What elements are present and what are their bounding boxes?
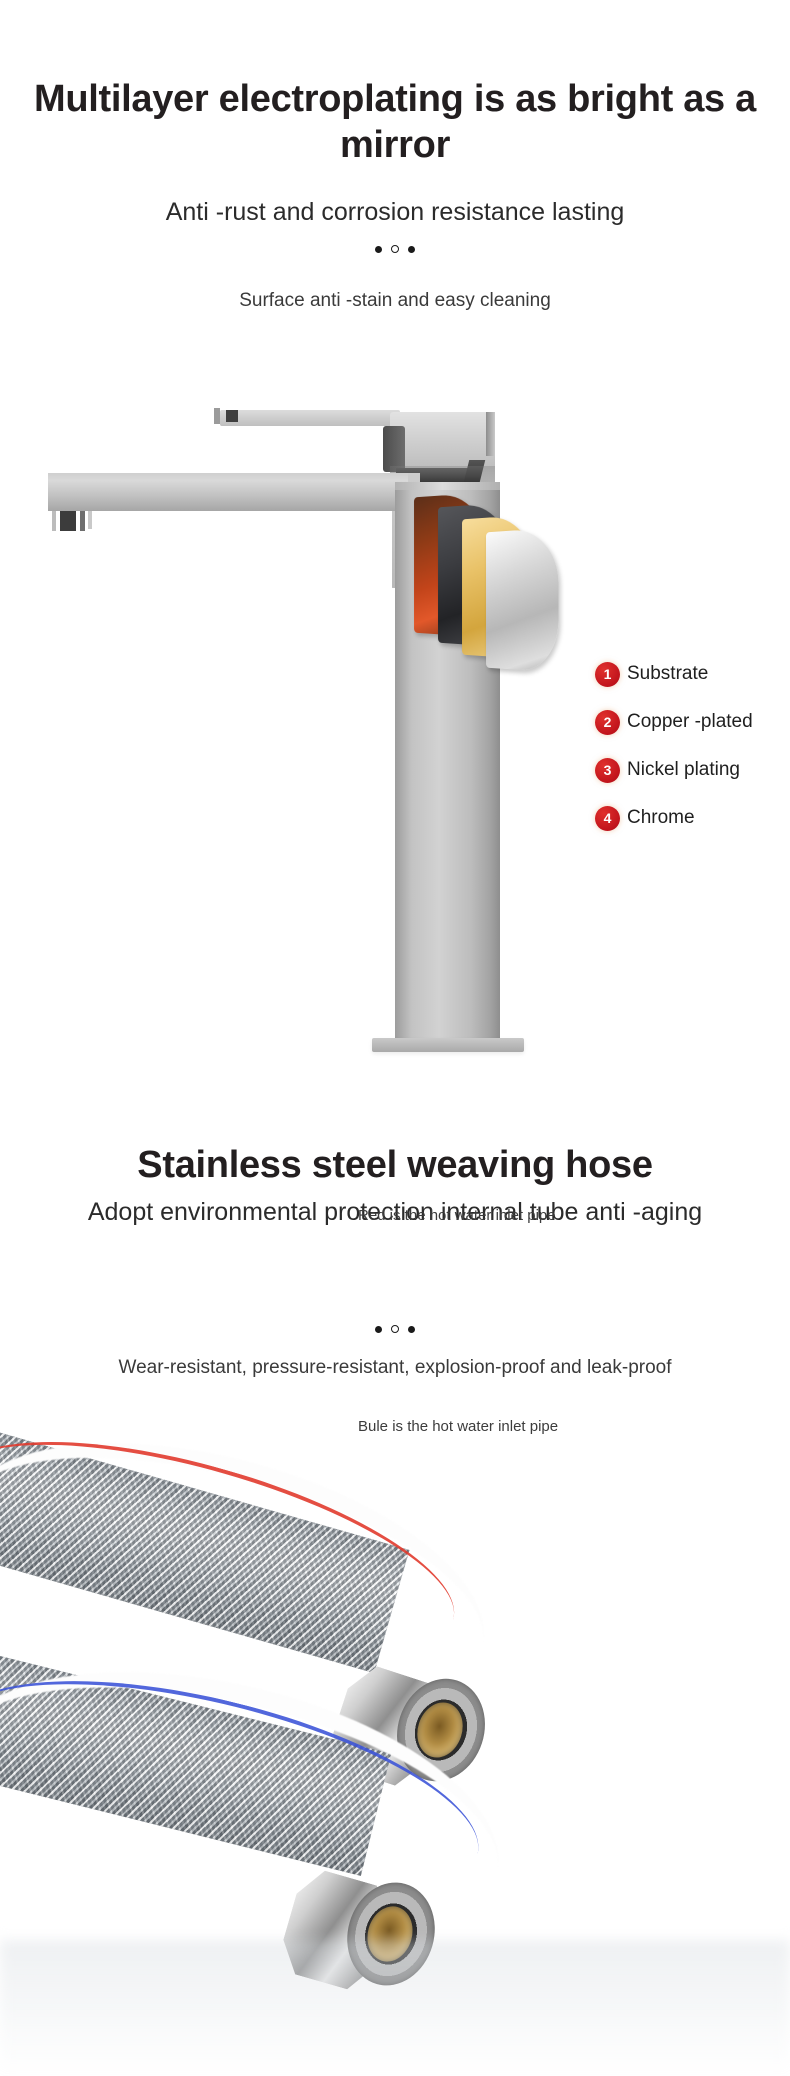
legend-badge-3: 3 [595, 758, 620, 783]
legend-item-copper-plated: 2 Copper -plated [595, 698, 790, 746]
legend-badge-1: 1 [595, 662, 620, 687]
section-one-note: Surface anti -stain and easy cleaning [20, 288, 770, 314]
coating-legend-list: 1 Substrate 2 Copper -plated 3 Nickel pl… [595, 650, 790, 842]
faucet-lever-tip [214, 408, 220, 424]
product-detail-page: Multilayer electroplating is as bright a… [0, 0, 790, 2076]
faucet-lever-accent [226, 410, 238, 422]
faucet-cap-right-edge [486, 412, 495, 456]
aerator-highlight [88, 511, 92, 529]
faucet-base-plate [372, 1038, 524, 1052]
coating-layer-chrome [482, 530, 560, 670]
faucet-illustration [0, 390, 600, 1070]
separator-dots-one [0, 245, 790, 253]
dot-hollow-center [391, 245, 399, 253]
legend-label-3: Nickel plating [627, 759, 740, 781]
separator-dots-two [0, 1325, 790, 1333]
dot-filled-right-2 [408, 1326, 415, 1333]
surface-reflection [0, 1940, 790, 2076]
braided-hose-photo [0, 1400, 790, 2076]
legend-item-nickel-plating: 3 Nickel plating [595, 746, 790, 794]
legend-label-2: Copper -plated [627, 711, 753, 733]
dot-filled-left [375, 246, 382, 253]
dot-filled-right [408, 246, 415, 253]
section-multilayer-electroplating: Multilayer electroplating is as bright a… [0, 0, 790, 1100]
aerator-ring [80, 511, 85, 531]
faucet-spout [48, 473, 408, 511]
dot-filled-left-2 [375, 1326, 382, 1333]
faucet-lever-handle [220, 410, 400, 426]
section-one-heading: Multilayer electroplating is as bright a… [20, 76, 770, 168]
section-two-note: Wear-resistant, pressure-resistant, expl… [10, 1355, 780, 1381]
legend-badge-4: 4 [595, 806, 620, 831]
chrome-sheet [486, 527, 558, 672]
dot-hollow-center-2 [391, 1325, 399, 1333]
faucet-aerator [52, 511, 110, 531]
legend-label-4: Chrome [627, 807, 695, 829]
caption-cold-water-pipe: Bule is the hot water inlet pipe [358, 1418, 558, 1435]
section-stainless-steel-hose: Stainless steel weaving hose Adopt envir… [0, 1100, 790, 2076]
faucet-spout-elbow-cutout [330, 511, 392, 601]
aerator-outlet [60, 511, 76, 531]
legend-badge-2: 2 [595, 710, 620, 735]
section-two-heading: Stainless steel weaving hose [20, 1142, 770, 1188]
legend-item-substrate: 1 Substrate [595, 650, 790, 698]
legend-label-1: Substrate [627, 663, 708, 685]
legend-item-chrome: 4 Chrome [595, 794, 790, 842]
caption-hot-water-pipe: Red is the hot water inlet pipe [358, 1207, 556, 1224]
section-one-subheading: Anti -rust and corrosion resistance last… [20, 196, 770, 229]
aerator-edge-left [52, 511, 56, 531]
